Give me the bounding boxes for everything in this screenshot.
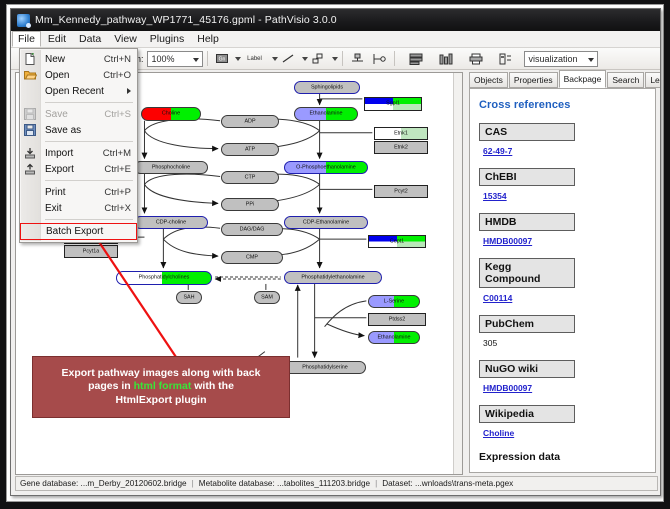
gene-node-sgpl1[interactable]: Sgpl1	[364, 97, 422, 111]
align-icon[interactable]	[348, 50, 367, 67]
metabolite-node-adp[interactable]: ADP	[221, 115, 279, 128]
node-label: Phosphocholine	[135, 165, 207, 170]
xref-link[interactable]: HMDB00097	[483, 383, 532, 393]
cross-reference-list: CAS62-49-7ChEBI15354HMDBHMDB00097Kegg Co…	[479, 123, 646, 441]
annotation-callout: Export pathway images along with back pa…	[32, 356, 290, 418]
columns-icon[interactable]	[436, 50, 456, 67]
import-icon	[24, 147, 37, 159]
node-label: Pcyt1a	[65, 249, 117, 254]
metabolite-node-ptdcholines[interactable]: Phosphatidylcholines	[116, 271, 212, 285]
save-as-icon	[24, 124, 37, 136]
menu-item-import[interactable]: Import Ctrl+M	[20, 145, 137, 161]
xref-link[interactable]: Choline	[483, 428, 514, 438]
xref-link[interactable]: HMDB00097	[483, 236, 532, 246]
line-dropdown-chevron-icon[interactable]	[302, 57, 308, 61]
xref-block: HMDBHMDB00097	[479, 213, 646, 249]
screenshot-root: Mm_Kennedy_pathway_WP1771_45176.gpml - P…	[0, 0, 670, 509]
menu-item-save: Save Ctrl+S	[20, 106, 137, 122]
node-label: O-Phosphoethanolamine	[285, 165, 367, 170]
status-separator-1: |	[192, 479, 194, 488]
node-label: CDP-Ethanolamine	[285, 220, 367, 225]
menu-item-new-label: New	[45, 54, 104, 65]
metabolite-node-sam[interactable]: SAM	[254, 291, 280, 304]
metabolite-node-cdpcholine[interactable]: CDP-choline	[134, 216, 208, 229]
menu-item-open-accel: Ctrl+O	[103, 70, 131, 81]
pathvisio-window: Mm_Kennedy_pathway_WP1771_45176.gpml - P…	[10, 8, 661, 496]
visualization-combo[interactable]: visualization	[524, 51, 598, 67]
xref-name: Kegg Compound	[479, 258, 575, 288]
tab-backpage[interactable]: Backpage	[559, 70, 607, 88]
node-label: Phosphatidylcholines	[117, 275, 211, 280]
node-label: Ethanolamine	[369, 335, 419, 340]
node-label: Sgpl1	[365, 101, 421, 106]
gene-dropdown-chevron-icon[interactable]	[235, 57, 241, 61]
toolbar-divider	[207, 51, 208, 66]
line-icon[interactable]	[279, 50, 298, 67]
node-label: Pcyt2	[375, 189, 427, 194]
gene-node-cept1[interactable]: Cept1	[368, 235, 426, 248]
metabolite-node-atp[interactable]: ATP	[221, 143, 279, 156]
menu-item-save-as[interactable]: Save as	[20, 122, 137, 138]
menu-item-open-recent-label: Open Recent	[45, 86, 127, 97]
xref-name: HMDB	[479, 213, 575, 231]
callout-line2-pre: pages in	[88, 380, 134, 392]
metabolite-node-ethanolamine2[interactable]: Ethanolamine	[368, 331, 420, 344]
metabolite-node-cmp[interactable]: CMP	[221, 251, 283, 264]
interaction-icon[interactable]	[309, 50, 328, 67]
metabolite-node-lserine[interactable]: L-Serine	[368, 295, 420, 308]
menu-separator-1	[45, 102, 133, 103]
node-label: CDP-choline	[135, 220, 207, 225]
open-folder-icon	[24, 69, 37, 81]
xref-name: Wikipedia	[479, 405, 575, 423]
gene-node-etnk1[interactable]: Etnk1	[374, 127, 428, 140]
side-panel-tabs: Objects Properties Backpage Search Legen…	[467, 72, 658, 88]
status-gene-database: Gene database: ...m_Derby_20120602.bridg…	[20, 479, 187, 488]
label-dropdown-chevron-icon[interactable]	[272, 57, 278, 61]
menu-item-save-accel: Ctrl+S	[104, 109, 131, 120]
node-label: SAH	[177, 295, 201, 300]
callout-line1: Export pathway images along with back	[62, 367, 261, 379]
gene-node-ptdss2[interactable]: Ptdss2	[368, 313, 426, 326]
side-panel: Objects Properties Backpage Search Legen…	[467, 72, 658, 475]
menu-separator-2	[45, 141, 133, 142]
gene-node-pcyt2[interactable]: Pcyt2	[374, 185, 428, 198]
node-label: ADP	[222, 119, 278, 124]
menu-item-print[interactable]: Print Ctrl+P	[20, 184, 137, 200]
menu-bar: File Edit Data View Plugins Help	[11, 31, 660, 48]
xref-value: 305	[483, 338, 497, 348]
menu-item-import-label: Import	[45, 148, 103, 159]
node-label: Etnk2	[375, 145, 427, 150]
save-disk-icon	[24, 108, 37, 120]
tab-legend[interactable]: Legend	[645, 72, 661, 88]
table-icon[interactable]	[406, 50, 426, 67]
print-icon[interactable]	[466, 50, 486, 67]
menu-item-print-accel: Ctrl+P	[104, 187, 131, 198]
node-label: Choline	[142, 111, 200, 116]
menu-view[interactable]: View	[108, 31, 143, 47]
menu-item-save-label: Save	[45, 109, 104, 120]
label-icon[interactable]: Label	[242, 50, 268, 67]
node-label: Cept1	[369, 239, 425, 244]
status-bar: Gene database: ...m_Derby_20120602.bridg…	[15, 476, 658, 491]
gene-node-etnk2[interactable]: Etnk2	[374, 141, 428, 154]
xref-link[interactable]: C00114	[483, 293, 512, 303]
callout-line3: HtmlExport plugin	[116, 394, 207, 406]
file-menu-dropdown[interactable]: New Ctrl+N Open Ctrl+O Open Recent Save	[19, 48, 138, 243]
menu-item-import-accel: Ctrl+M	[103, 148, 131, 159]
xref-name: ChEBI	[479, 168, 575, 186]
legend-icon[interactable]	[496, 50, 516, 67]
node-label: Sphingolipids	[295, 85, 359, 90]
status-dataset: Dataset: ...wnloads\trans-meta.pgex	[382, 479, 513, 488]
menu-item-open-label: Open	[45, 70, 103, 81]
metabolite-node-dagdag[interactable]: DAG/DAG	[221, 223, 283, 236]
visualization-value: visualization	[529, 54, 578, 64]
cross-references-heading: Cross references	[479, 99, 646, 111]
visualization-chevron-down-icon	[588, 58, 594, 62]
menu-item-export-label: Export	[45, 164, 104, 175]
node-label: Etnk1	[375, 131, 427, 136]
metabolite-node-ppi[interactable]: PPi	[221, 198, 279, 211]
title-bar: Mm_Kennedy_pathway_WP1771_45176.gpml - P…	[11, 9, 660, 31]
menu-item-new-accel: Ctrl+N	[104, 54, 131, 65]
node-label: CMP	[222, 255, 282, 260]
menu-item-print-label: Print	[45, 187, 104, 198]
xref-block: PubChem305	[479, 315, 646, 351]
xref-block: WikipediaCholine	[479, 405, 646, 441]
node-label: ATP	[222, 147, 278, 152]
menu-item-export[interactable]: Export Ctrl+E	[20, 161, 137, 177]
callout-highlight: html format	[134, 380, 192, 392]
metabolite-node-cdpetha[interactable]: CDP-Ethanolamine	[284, 216, 368, 229]
pathvisio-icon	[17, 14, 30, 27]
tab-objects[interactable]: Objects	[469, 72, 508, 88]
toolbar-divider-2	[342, 51, 343, 66]
menu-help[interactable]: Help	[191, 31, 225, 47]
xref-name: CAS	[479, 123, 575, 141]
tab-properties[interactable]: Properties	[509, 72, 558, 88]
anchor-icon[interactable]	[369, 50, 389, 67]
xref-block: ChEBI15354	[479, 168, 646, 204]
metabolite-node-sah[interactable]: SAH	[176, 291, 202, 304]
node-label: SAM	[255, 295, 279, 300]
menu-plugins[interactable]: Plugins	[144, 31, 190, 47]
new-document-icon	[24, 53, 37, 65]
menu-item-save-as-label: Save as	[45, 125, 131, 136]
backpage-content: Cross references CAS62-49-7ChEBI15354HMD…	[469, 88, 656, 473]
status-separator-2: |	[375, 479, 377, 488]
menu-item-batch-export-label: Batch Export	[46, 226, 130, 237]
menu-item-exit-accel: Ctrl+X	[104, 203, 131, 214]
interaction-dropdown-chevron-icon[interactable]	[332, 57, 338, 61]
xref-link[interactable]: 62-49-7	[483, 146, 512, 156]
zoom-value: 100%	[152, 54, 175, 64]
node-label: Ptdss2	[369, 317, 425, 322]
metabolite-node-ophosphoetha[interactable]: O-Phosphoethanolamine	[284, 161, 368, 174]
menu-item-batch-export[interactable]: Batch Export	[20, 223, 137, 240]
status-metabolite-database: Metabolite database: ...tabolites_111203…	[199, 479, 370, 488]
metabolite-node-ptdetha[interactable]: Phosphatidylethanolamine	[284, 271, 382, 284]
metabolite-node-ethanolamine1[interactable]: Ethanolamine	[294, 107, 358, 121]
gene-product-icon[interactable]: Gn	[213, 50, 231, 67]
menu-edit[interactable]: Edit	[42, 31, 72, 47]
gene-node-pcyt1a[interactable]: Pcyt1a	[64, 245, 118, 258]
menu-item-open-recent[interactable]: Open Recent	[20, 83, 137, 99]
window-title: Mm_Kennedy_pathway_WP1771_45176.gpml - P…	[35, 14, 337, 26]
menu-item-exit[interactable]: Exit Ctrl+X	[20, 200, 137, 216]
node-label: Ethanolamine	[295, 111, 357, 116]
svg-text:Gn: Gn	[218, 57, 225, 63]
menu-separator-3	[45, 180, 133, 181]
label-text: Label	[247, 56, 262, 62]
metabolite-node-phosphocholine[interactable]: Phosphocholine	[134, 161, 208, 174]
xref-block: Kegg CompoundC00114	[479, 258, 646, 306]
node-label: DAG/DAG	[222, 227, 282, 232]
submenu-arrow-icon	[127, 88, 131, 94]
metabolite-node-ptdserine[interactable]: Phosphatidylserine	[284, 361, 366, 374]
node-label: L-Serine	[369, 299, 419, 304]
node-label: CTP	[222, 175, 278, 180]
menu-separator-4	[45, 219, 133, 220]
node-label: Phosphatidylethanolamine	[285, 275, 381, 280]
callout-line2-post: with the	[191, 380, 234, 392]
xref-name: NuGO wiki	[479, 360, 575, 378]
node-label: Phosphatidylserine	[285, 365, 365, 370]
menu-data[interactable]: Data	[73, 31, 107, 47]
zoom-combo[interactable]: 100%	[147, 51, 203, 67]
xref-name: PubChem	[479, 315, 575, 333]
chevron-down-icon	[193, 58, 199, 62]
menu-item-export-accel: Ctrl+E	[104, 164, 131, 175]
metabolite-node-sphingolipids[interactable]: Sphingolipids	[294, 81, 360, 94]
canvas-vertical-scrollbar[interactable]	[453, 73, 462, 474]
tab-search[interactable]: Search	[607, 72, 644, 88]
xref-block: NuGO wikiHMDB00097	[479, 360, 646, 396]
export-icon	[24, 163, 37, 175]
node-label: PPi	[222, 202, 278, 207]
menu-item-open[interactable]: Open Ctrl+O	[20, 67, 137, 83]
toolbar-divider-3	[394, 51, 395, 66]
expression-data-heading: Expression data	[479, 451, 646, 463]
menu-file[interactable]: File	[12, 31, 41, 47]
menu-item-new[interactable]: New Ctrl+N	[20, 51, 137, 67]
xref-link[interactable]: 15354	[483, 191, 507, 201]
metabolite-node-choline[interactable]: Choline	[141, 107, 201, 121]
xref-block: CAS62-49-7	[479, 123, 646, 159]
menu-item-exit-label: Exit	[45, 203, 104, 214]
metabolite-node-ctp[interactable]: CTP	[221, 171, 279, 184]
